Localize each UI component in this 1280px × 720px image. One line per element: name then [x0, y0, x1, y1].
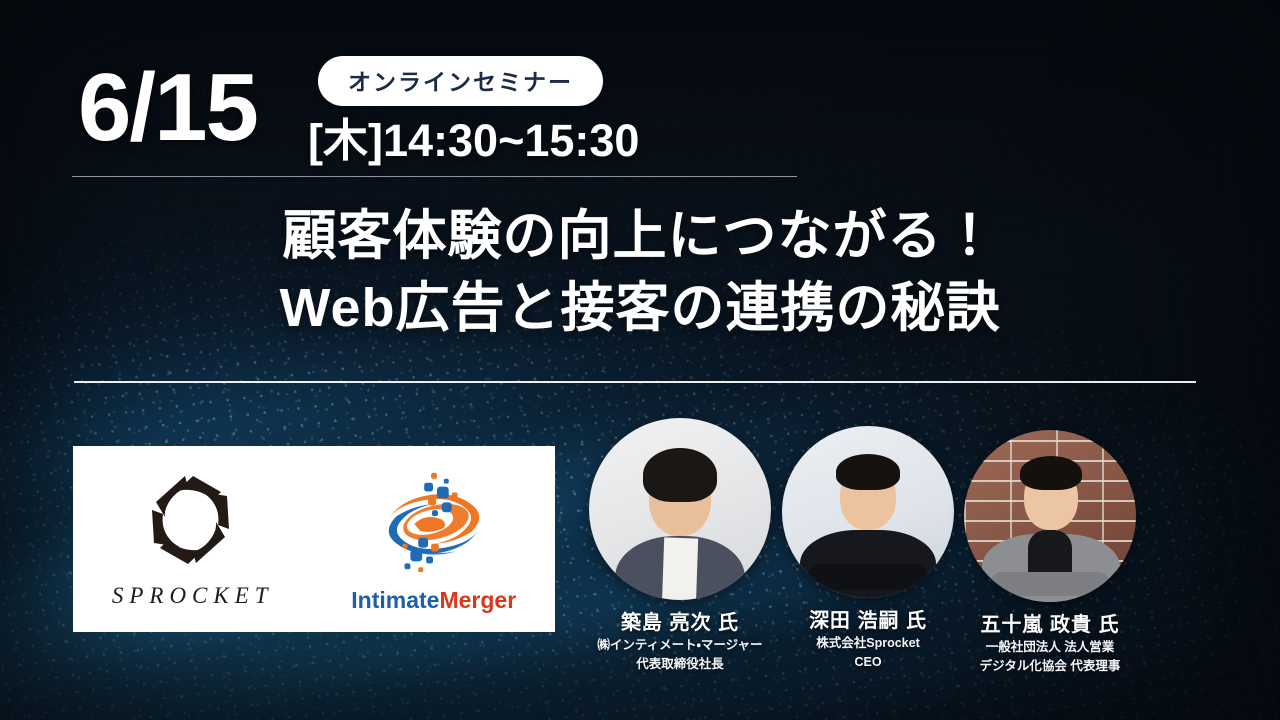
speaker-3-name: 五十嵐 政貴 氏 [955, 608, 1145, 637]
speaker-1-avatar [589, 418, 771, 600]
speaker-1-org-line-1: ㈱インティメート・マージャー [585, 637, 775, 654]
speaker-1: 築島 亮次 氏 ㈱インティメート・マージャー 代表取締役社長 [585, 418, 775, 673]
seminar-type-badge: オンラインセミナー [318, 56, 603, 106]
divider-top [72, 176, 797, 177]
speaker-1-org-line-2: 代表取締役社長 [585, 656, 775, 673]
logo-sprocket: SPROCKET [112, 469, 274, 609]
speaker-3: 五十嵐 政貴 氏 一般社団法人 法人営業 デジタル化協会 代表理事 [955, 430, 1145, 675]
speaker-1-name: 築島 亮次 氏 [585, 606, 775, 635]
event-date: 6/15 [78, 60, 257, 156]
speaker-2: 深田 浩嗣 氏 株式会社Sprocket CEO [773, 426, 963, 671]
speaker-2-org-line-2: CEO [773, 654, 963, 671]
event-time: [木]14:30~15:30 [308, 104, 639, 169]
divider-bottom [74, 381, 1196, 383]
speaker-3-org-line-2: デジタル化協会 代表理事 [955, 658, 1145, 675]
title-line-2: Web広告と接客の連携の秘訣 [0, 272, 1280, 344]
speaker-3-avatar [964, 430, 1136, 602]
intimate-merger-mark-icon [375, 465, 493, 583]
logo-intimate-merger: IntimateMerger [351, 465, 516, 614]
speaker-2-org-line-1: 株式会社Sprocket [773, 635, 963, 652]
logo-panel: SPROCKET [73, 446, 555, 632]
title-line-1: 顧客体験の向上につながる！ [0, 200, 1280, 272]
intimate-merger-wordmark-part1: Intimate [351, 587, 439, 613]
sprocket-wordmark: SPROCKET [112, 583, 274, 609]
sprocket-mark-icon [141, 469, 245, 569]
intimate-merger-wordmark: IntimateMerger [351, 587, 516, 614]
date-header: 6/15 オンラインセミナー [木]14:30~15:30 [70, 52, 850, 167]
intimate-merger-wordmark-part2: Merger [439, 587, 516, 613]
speaker-3-org-line-1: 一般社団法人 法人営業 [955, 639, 1145, 656]
speaker-2-avatar [782, 426, 954, 598]
webinar-banner: 6/15 オンラインセミナー [木]14:30~15:30 顧客体験の向上につな… [0, 0, 1280, 720]
speaker-list: 築島 亮次 氏 ㈱インティメート・マージャー 代表取締役社長 深田 浩嗣 氏 株… [585, 418, 1185, 708]
speaker-2-name: 深田 浩嗣 氏 [773, 604, 963, 633]
page-title: 顧客体験の向上につながる！ Web広告と接客の連携の秘訣 [0, 200, 1280, 345]
